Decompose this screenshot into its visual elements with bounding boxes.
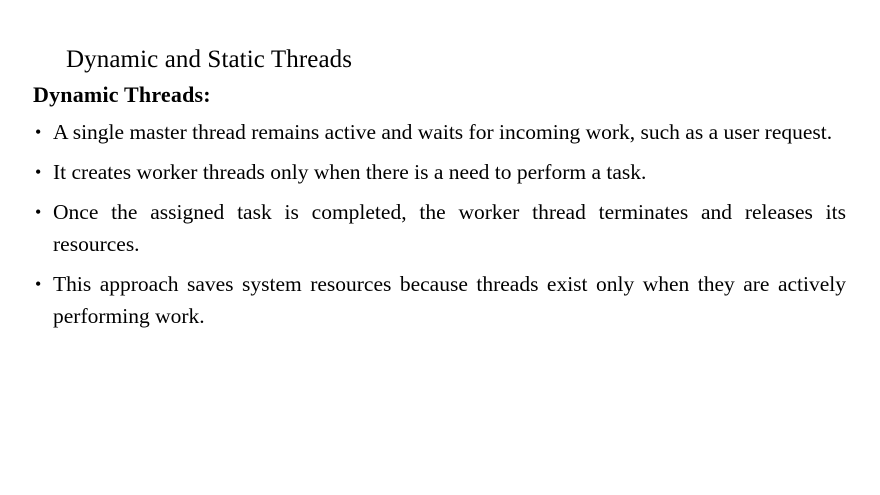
bullet-point-icon: • [35,196,41,228]
bullet-point-icon: • [35,268,41,300]
bullet-list: • A single master thread remains active … [33,116,846,332]
bullet-text: It creates worker threads only when ther… [53,156,846,188]
list-item: • A single master thread remains active … [33,116,846,148]
page-title: Dynamic and Static Threads [66,45,352,75]
bullet-point-icon: • [35,156,41,188]
bullet-point-icon: • [35,116,41,148]
list-item: • Once the assigned task is completed, t… [33,196,846,260]
slide-canvas: Dynamic and Static Threads Dynamic Threa… [0,0,880,495]
bullet-text: Once the assigned task is completed, the… [53,196,846,260]
section-heading-dynamic-threads: Dynamic Threads: [33,82,846,108]
bullet-text: This approach saves system resources bec… [53,268,846,332]
list-item: • This approach saves system resources b… [33,268,846,332]
list-item: • It creates worker threads only when th… [33,156,846,188]
slide-body: Dynamic Threads: • A single master threa… [33,82,846,332]
bullet-text: A single master thread remains active an… [53,116,846,148]
